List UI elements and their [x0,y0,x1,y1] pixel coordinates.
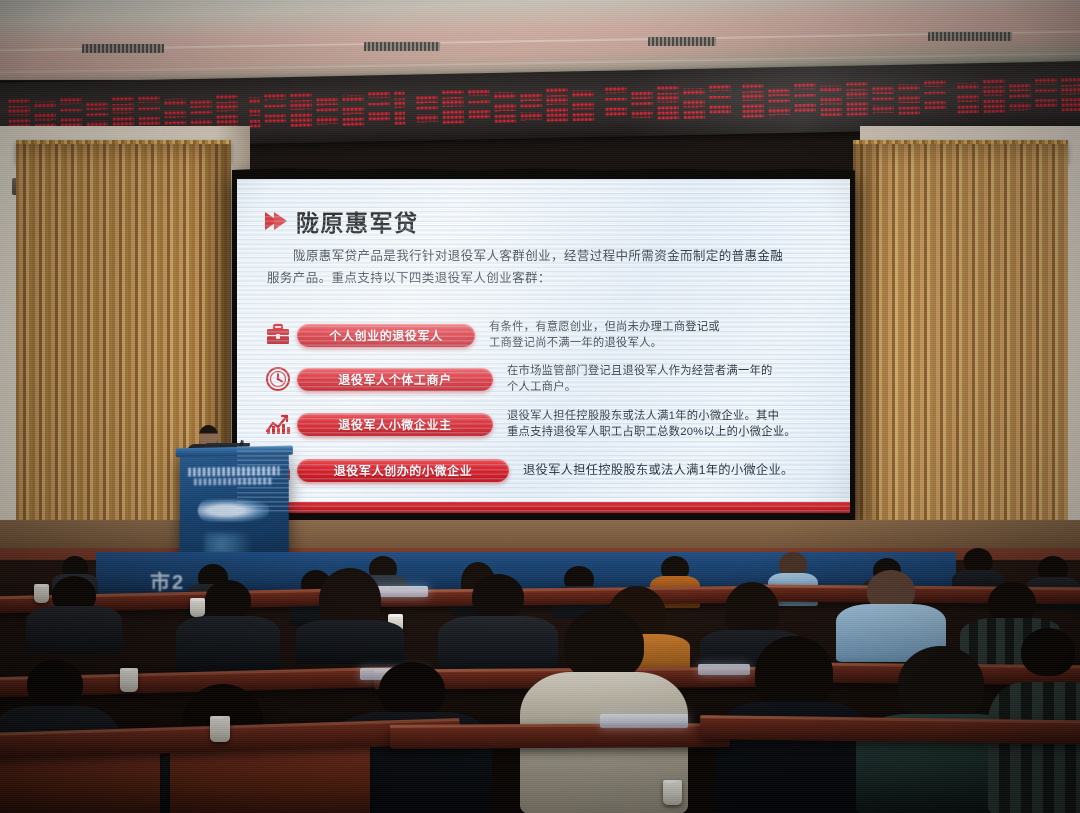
podium-top [176,446,293,458]
audience-body [296,620,404,664]
slide-item-badge: 个人创业的退役军人 [297,324,475,347]
presentation-slide: 陇原惠军贷 陇原惠军贷产品是我行针对退役军人客群创业，经营过程中所需资金而制定的… [237,179,850,513]
desc-line-1: 退役军人担任控股股东或法人满1年的小微企业。其中 [507,410,779,422]
slide-item-badge: 退役军人小微企业主 [297,413,493,436]
audience-head [27,660,83,708]
audience-member [296,568,404,664]
slide-footer-bar [237,502,850,513]
ceiling-vent-icon [82,44,164,53]
paper-cup [663,780,682,805]
audience-hair [564,608,644,680]
slide-title: 陇原惠军贷 [296,204,419,238]
chevron-double-right-icon [265,212,283,230]
slide-item-description: 退役军人担任控股股东或法人满1年的小微企业。其中 重点支持退役军人职工占职工总数… [507,408,796,441]
podium-banner-line-2 [194,478,271,486]
ceiling-vent-icon [364,42,440,51]
briefcase-icon [259,323,297,347]
slide-header: 陇原惠军贷 [265,204,419,238]
audience-body [988,682,1080,813]
podium-logo [198,499,269,522]
slide-item-badge: 退役军人创办的小微企业 [297,459,509,482]
projection-screen: 陇原惠军贷 陇原惠军贷产品是我行针对退役军人客群创业，经营过程中所需资金而制定的… [232,173,855,521]
paper-cup [120,668,138,692]
audience-member [176,580,280,672]
desc-line-1: 在市场监管部门登记且退役军人作为经营者满一年的 [507,365,773,377]
growth-chart-icon [259,412,297,436]
audience-head [1021,628,1075,676]
audience-head [472,574,524,620]
audience-head [205,580,251,620]
ceiling-vent-icon [648,37,716,46]
stamp-seal-icon [259,366,297,392]
audience-hair [898,646,984,722]
slide-item: 退役军人个体工商户 在市场监管部门登记且退役军人作为经营者满一年的 个人工商户。 [259,357,831,401]
slide-item-description: 有条件，有意愿创业，但尚未办理工商登记或 工商登记尚不满一年的退役军人。 [489,319,720,352]
ceiling-vent-icon [928,32,1012,41]
podium-banner-line-1 [188,466,279,476]
audience-member [26,576,122,654]
slide-item-description: 退役军人担任控股股东或法人满1年的小微企业。 [523,461,794,479]
slide-item: 个人创业的退役军人 有条件，有意愿创业，但尚未办理工商登记或 工商登记尚不满一年… [259,313,831,357]
slide-intro-line-1: 陇原惠军贷产品是我行针对退役军人客群创业，经营过程中所需资金而制定的普惠金融 [267,245,823,267]
slide-item-list: 个人创业的退役军人 有条件，有意愿创业，但尚未办理工商登记或 工商登记尚不满一年… [259,313,831,493]
device-screen-glow [600,714,688,728]
audience-head [379,662,445,718]
slide-intro-line-2: 服务产品。重点支持以下四类退役军人创业客群： [267,271,551,285]
slide-item: 退役军人小微企业主 退役军人担任控股股东或法人满1年的小微企业。其中 重点支持退… [259,401,831,447]
audience-body [26,606,122,654]
conference-hall-photo: 陇原惠军贷 陇原惠军贷产品是我行针对退役军人客群创业，经营过程中所需资金而制定的… [0,0,1080,813]
chair-back [0,752,160,813]
desc-line-2: 工商登记尚不满一年的退役军人。 [489,337,662,349]
slide-item-description: 在市场监管部门登记且退役军人作为经营者满一年的 个人工商户。 [507,363,773,396]
slide-item-badge: 退役军人个体工商户 [297,368,493,391]
audience-hair [755,636,833,710]
desc-line-2: 个人工商户。 [507,381,576,393]
chair-back [170,744,370,813]
desc-line-2: 重点支持退役军人职工占职工总数20%以上的小微企业。 [507,426,796,438]
audience-body [176,616,280,672]
slide-item: 退役军人创办的小微企业 退役军人担任控股股东或法人满1年的小微企业。 [259,447,831,493]
slide-intro-paragraph: 陇原惠军贷产品是我行针对退役军人客群创业，经营过程中所需资金而制定的普惠金融 服… [267,245,823,289]
paper-cup [210,716,230,742]
desc-line-1: 有条件，有意愿创业，但尚未办理工商登记或 [489,321,720,333]
